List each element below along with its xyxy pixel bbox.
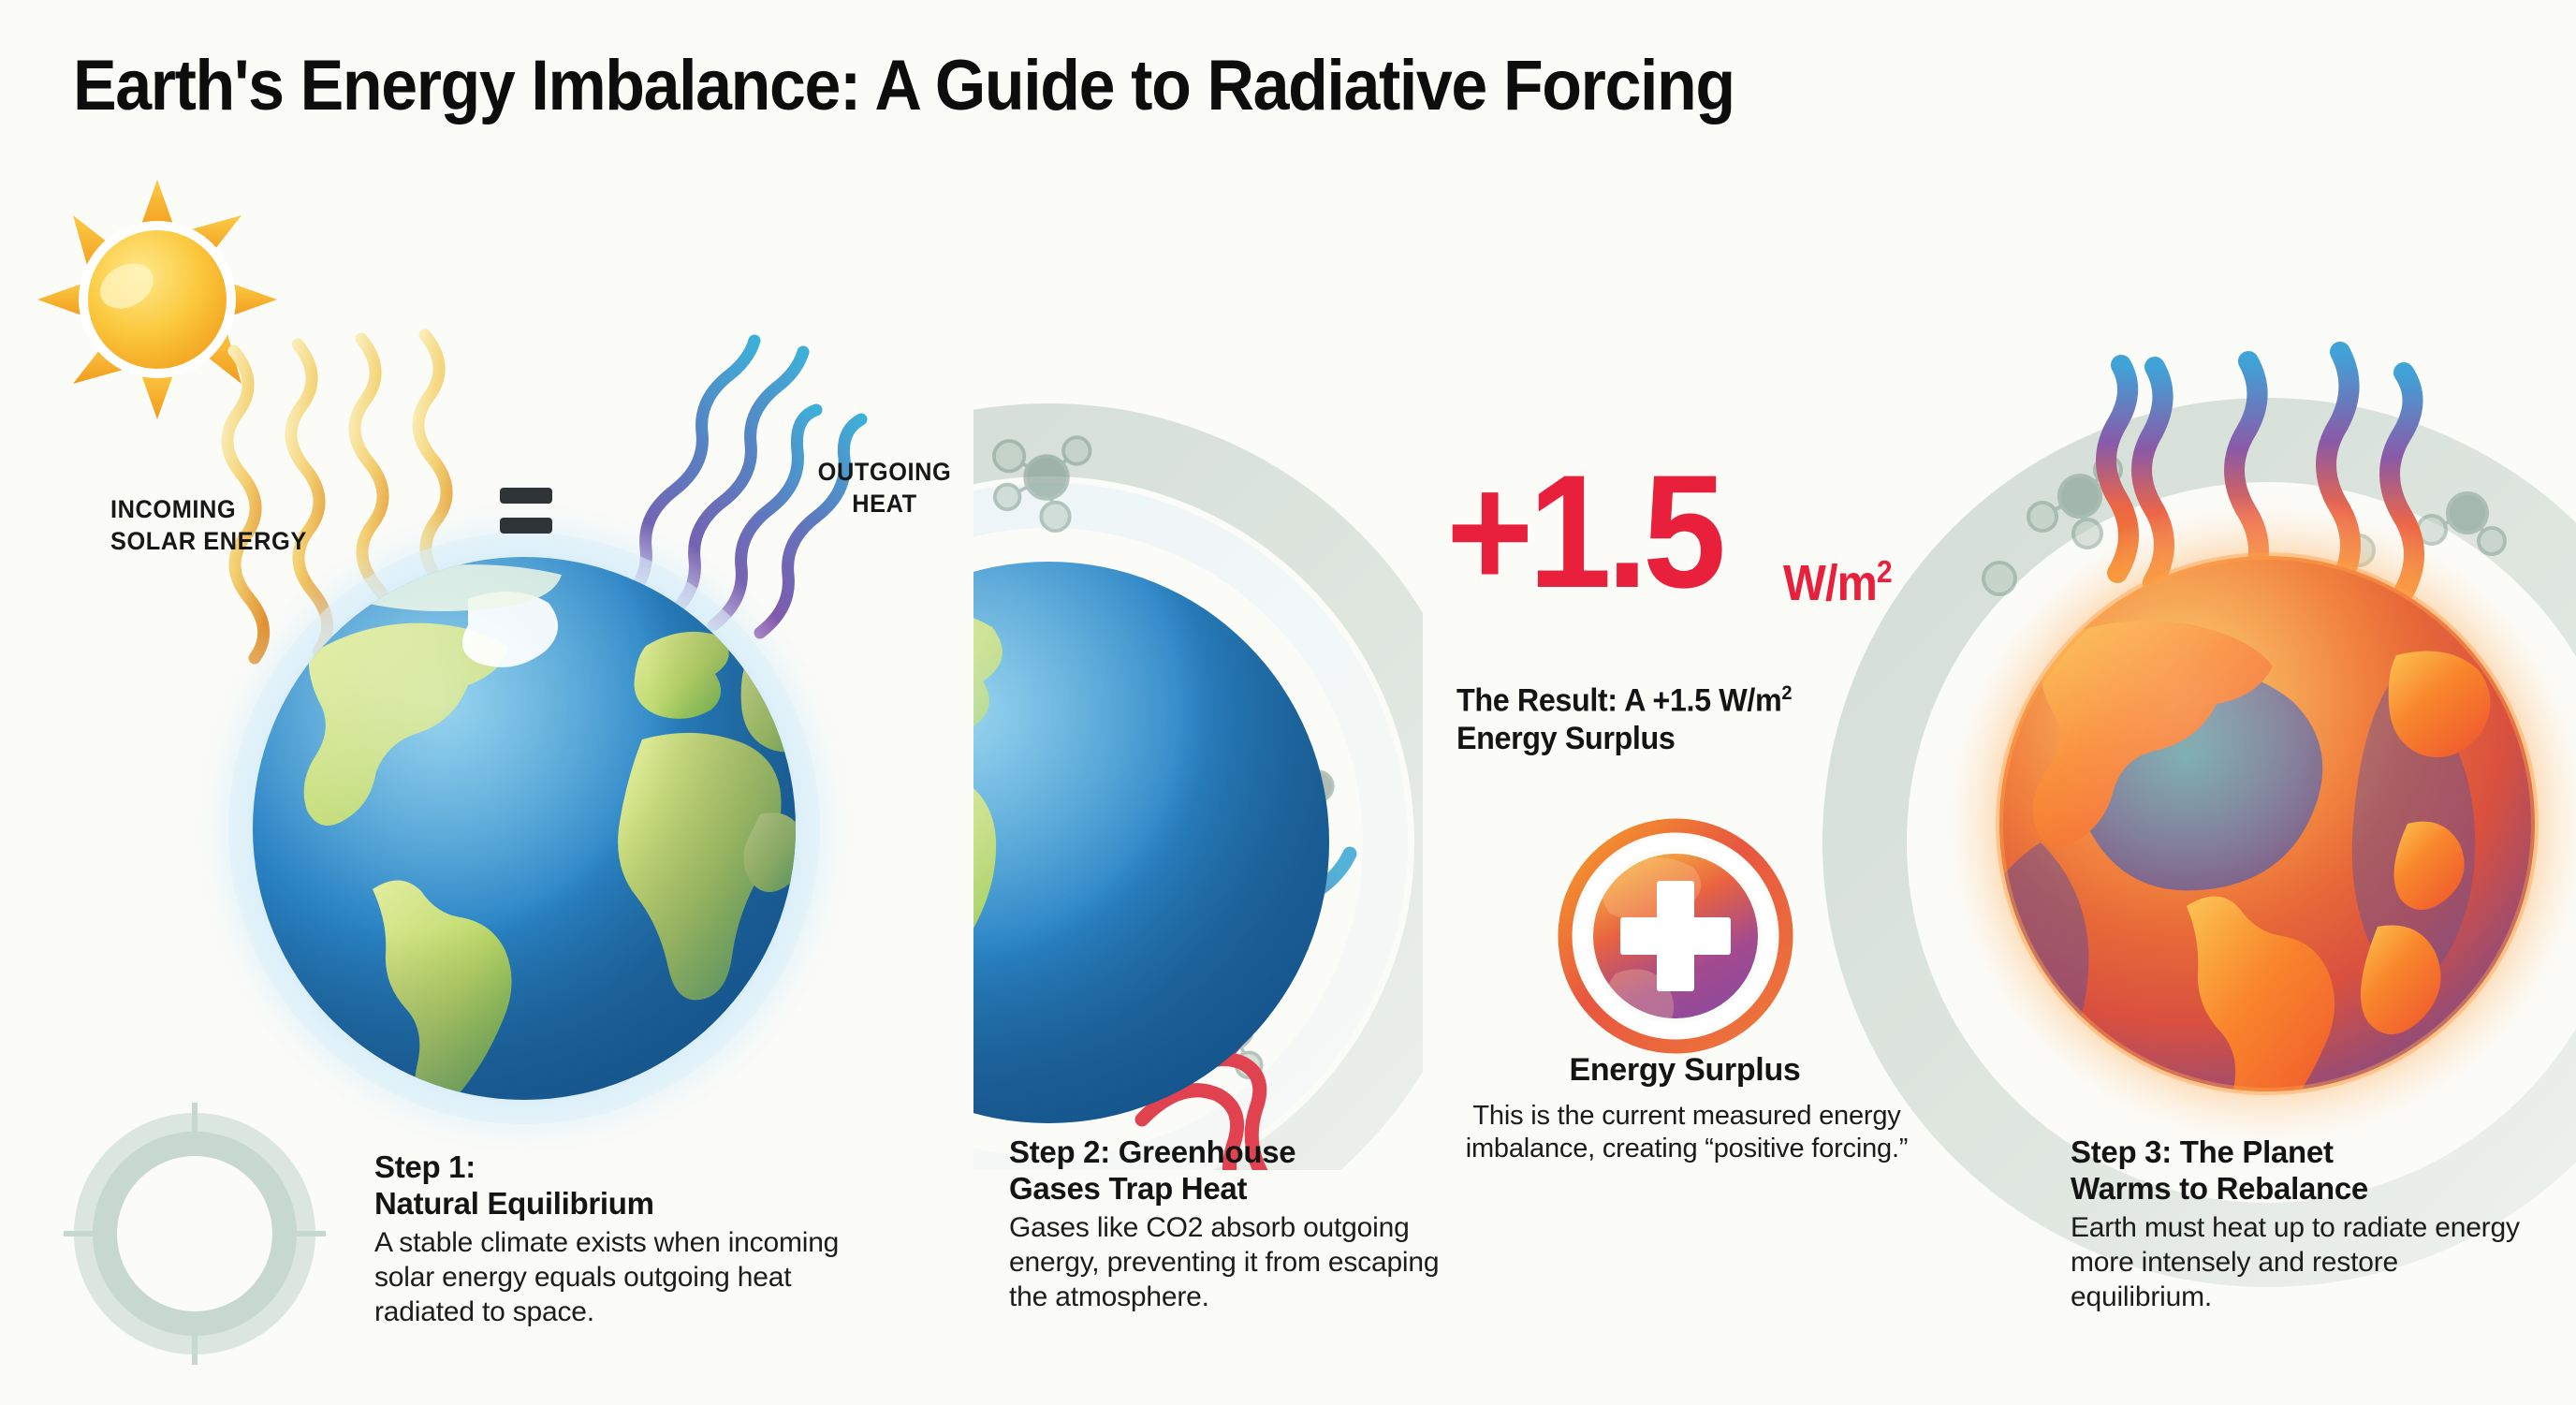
incoming-label-line1: INCOMING xyxy=(110,494,307,526)
panel-3-heading: Step 3: The Planet Warms to Rebalance xyxy=(2071,1134,2520,1207)
panel-1-caption: Step 1: Natural Equilibrium A stable cli… xyxy=(374,1149,880,1330)
result-statement: The Result: A +1.5 W/m2 Energy Surplus xyxy=(1456,681,1875,758)
outgoing-label-line2: HEAT xyxy=(805,489,963,520)
sun-icon xyxy=(37,180,277,419)
incoming-solar-energy-label: INCOMING SOLAR ENERGY xyxy=(110,494,307,558)
panel-1-heading: Step 1: Natural Equilibrium xyxy=(374,1149,880,1222)
energy-surplus-title: Energy Surplus xyxy=(1488,1052,1881,1089)
outgoing-heat-label: OUTGOING HEAT xyxy=(805,457,963,520)
outgoing-label-line1: OUTGOING xyxy=(805,457,963,489)
panel-1-heading-line2: Natural Equilibrium xyxy=(374,1186,880,1222)
panel-1-heading-line1: Step 1: xyxy=(374,1149,880,1186)
forcing-unit: W/m2 xyxy=(1783,557,1892,608)
incoming-label-line2: SOLAR ENERGY xyxy=(110,526,307,558)
panel-1-body: A stable climate exists when incoming so… xyxy=(374,1226,880,1330)
target-ring-icon xyxy=(64,1103,326,1365)
panel-2-heading-line1: Step 2: Greenhouse xyxy=(1009,1134,1449,1171)
energy-surplus-body: This is the current measured energy imba… xyxy=(1453,1100,1921,1165)
equals-bar-bottom xyxy=(500,518,552,534)
panel-2-body: Gases like CO2 absorb outgoing energy, p… xyxy=(1009,1211,1449,1315)
infographic-canvas: Earth's Energy Imbalance: A Guide to Rad… xyxy=(0,0,2576,1405)
panel-2-caption: Step 2: Greenhouse Gases Trap Heat Gases… xyxy=(1009,1134,1449,1315)
result-line-1: The Result: A +1.5 W/m2 xyxy=(1456,681,1875,720)
plus-circle-surplus-icon xyxy=(1565,826,1786,1046)
equals-sign-icon xyxy=(500,488,552,536)
panel-3-body: Earth must heat up to radiate energy mor… xyxy=(2071,1211,2520,1315)
panel-3-heading-line2: Warms to Rebalance xyxy=(2071,1171,2520,1207)
equals-bar-top xyxy=(500,488,552,504)
forcing-unit-main: W/m xyxy=(1783,555,1877,611)
panel-3-illustration xyxy=(1865,352,2576,1245)
panel-3-caption: Step 3: The Planet Warms to Rebalance Ea… xyxy=(2071,1134,2520,1315)
result-line-1-text: The Result: A +1.5 W/m xyxy=(1456,682,1781,718)
panel-3-heading-line1: Step 3: The Planet xyxy=(2071,1134,2520,1171)
forcing-value: +1.5 xyxy=(1446,451,1720,612)
result-line-1-exponent: 2 xyxy=(1781,682,1792,704)
forcing-unit-exponent: 2 xyxy=(1877,555,1892,590)
panel-2-heading: Step 2: Greenhouse Gases Trap Heat xyxy=(1009,1134,1449,1207)
result-line-2: Energy Surplus xyxy=(1456,720,1875,758)
panel-2-heading-line2: Gases Trap Heat xyxy=(1009,1171,1449,1207)
